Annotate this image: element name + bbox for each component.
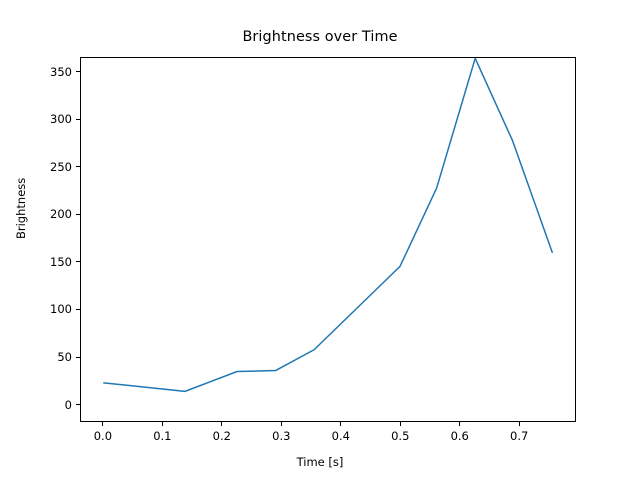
y-tick-mark — [76, 214, 80, 215]
x-tick-mark — [459, 422, 460, 426]
x-tick-label: 0.5 — [391, 429, 409, 443]
x-tick-mark — [340, 422, 341, 426]
y-tick-mark — [76, 261, 80, 262]
x-tick-label: 0.1 — [153, 429, 171, 443]
y-tick-mark — [76, 404, 80, 405]
y-tick-mark — [76, 166, 80, 167]
x-tick-label: 0.3 — [272, 429, 290, 443]
y-tick-label: 100 — [20, 302, 72, 316]
x-tick-label: 0.6 — [451, 429, 469, 443]
x-tick-label: 0.7 — [510, 429, 528, 443]
x-tick-mark — [281, 422, 282, 426]
x-tick-label: 0.2 — [213, 429, 231, 443]
x-axis-label: Time [s] — [0, 455, 640, 469]
y-tick-label: 150 — [20, 255, 72, 269]
y-tick-mark — [76, 357, 80, 358]
x-tick-mark — [400, 422, 401, 426]
y-tick-label: 200 — [20, 207, 72, 221]
x-tick-mark — [519, 422, 520, 426]
page-title: Brightness over Time — [0, 29, 640, 45]
y-tick-mark — [76, 71, 80, 72]
y-tick-label: 0 — [20, 398, 72, 412]
y-tick-label: 250 — [20, 160, 72, 174]
x-tick-label: 0.0 — [94, 429, 112, 443]
x-tick-mark — [102, 422, 103, 426]
y-tick-mark — [76, 119, 80, 120]
figure-canvas: Brightness over Time Brightness Time [s]… — [0, 0, 640, 480]
x-tick-label: 0.4 — [332, 429, 350, 443]
data-line-series — [81, 58, 575, 421]
x-tick-mark — [162, 422, 163, 426]
y-tick-label: 50 — [20, 350, 72, 364]
y-tick-label: 350 — [20, 65, 72, 79]
plot-area — [80, 57, 576, 422]
y-tick-label: 300 — [20, 112, 72, 126]
brightness-line — [104, 58, 552, 391]
y-tick-mark — [76, 309, 80, 310]
x-tick-mark — [221, 422, 222, 426]
